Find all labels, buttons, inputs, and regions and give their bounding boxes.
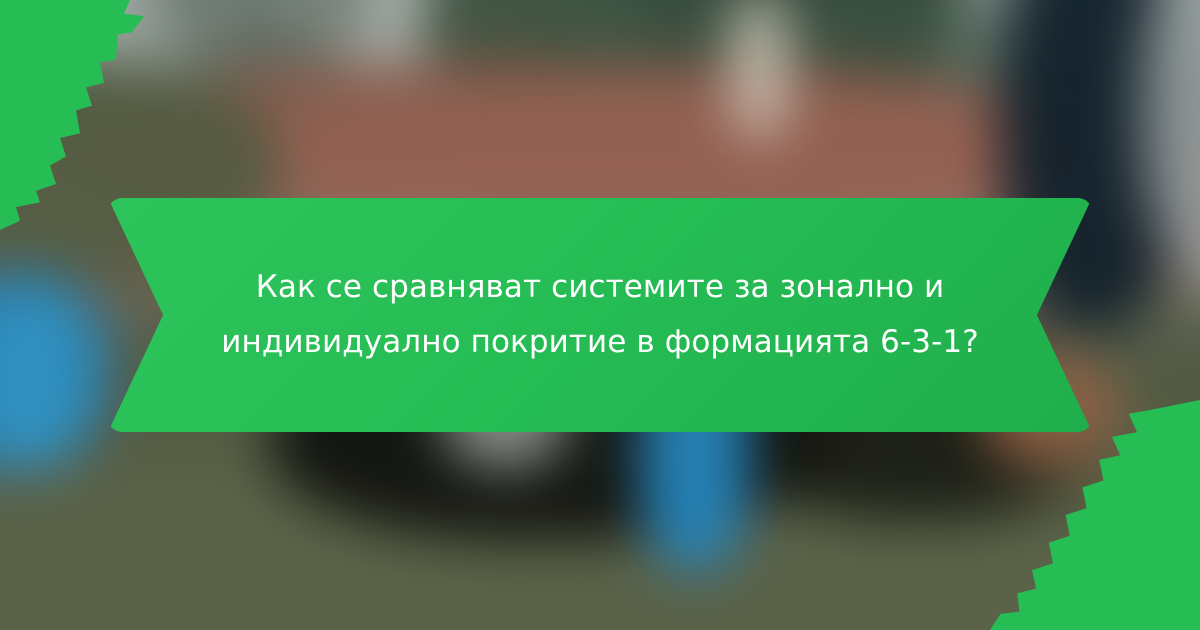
- quote-banner-content: Как се сравняват системите за зонално и …: [150, 260, 1050, 370]
- quote-banner: Как се сравняват системите за зонално и …: [108, 198, 1092, 432]
- quote-line-1: Как се сравняват системите за зонално и: [170, 260, 1030, 315]
- quote-line-2: индивидуално покритие в формацията 6-3-1…: [170, 315, 1030, 370]
- quote-card: Как се сравняват системите за зонално и …: [0, 0, 1200, 630]
- background-person-light-blob: [730, 0, 790, 140]
